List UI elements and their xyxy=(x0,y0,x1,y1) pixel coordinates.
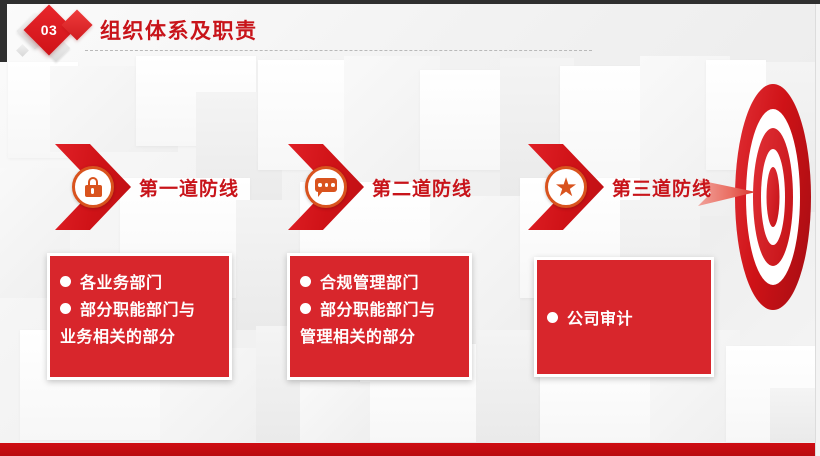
defense-label-first: 第一道防线 xyxy=(139,174,239,201)
star-icon: ★ xyxy=(545,166,587,208)
section-number-label: 03 xyxy=(31,12,67,48)
decor-diamond-gray-3 xyxy=(16,44,29,57)
chat-bubble-icon xyxy=(305,166,347,208)
slide-header: 03 组织体系及职责 xyxy=(0,4,820,60)
frame-edge-left xyxy=(0,0,7,62)
card-item-continuation: 管理相关的部分 xyxy=(300,324,459,351)
defense-card-third[interactable]: 公司审计 xyxy=(534,257,714,377)
frame-edge-right xyxy=(815,0,820,456)
defense-card-first[interactable]: 各业务部门 部分职能部门与 业务相关的部分 xyxy=(47,253,232,380)
bullet-dot xyxy=(300,276,311,287)
defense-card-second[interactable]: 合规管理部门 部分职能部门与 管理相关的部分 xyxy=(287,253,472,380)
lock-icon xyxy=(72,166,114,208)
card-item: 公司审计 xyxy=(547,306,633,333)
title-underline-dashed xyxy=(85,50,592,51)
bullet-dot xyxy=(60,276,71,287)
card-item: 部分职能部门与 xyxy=(300,297,459,324)
slide-canvas: 03 组织体系及职责 第一道防线 第二道防线 ★ 第三道防线 xyxy=(0,0,820,456)
frame-edge-top xyxy=(0,0,820,4)
bullet-dot xyxy=(60,303,71,314)
page-title: 组织体系及职责 xyxy=(100,15,258,45)
defense-label-second: 第二道防线 xyxy=(372,174,472,201)
card-item: 部分职能部门与 xyxy=(60,297,219,324)
card-item-continuation: 业务相关的部分 xyxy=(60,324,219,351)
card-item: 各业务部门 xyxy=(60,270,219,297)
bottom-accent-bar xyxy=(0,443,820,456)
card-item: 合规管理部门 xyxy=(300,270,459,297)
bullet-dot xyxy=(547,312,558,323)
bullet-dot xyxy=(300,303,311,314)
defense-label-third: 第三道防线 xyxy=(612,174,712,201)
